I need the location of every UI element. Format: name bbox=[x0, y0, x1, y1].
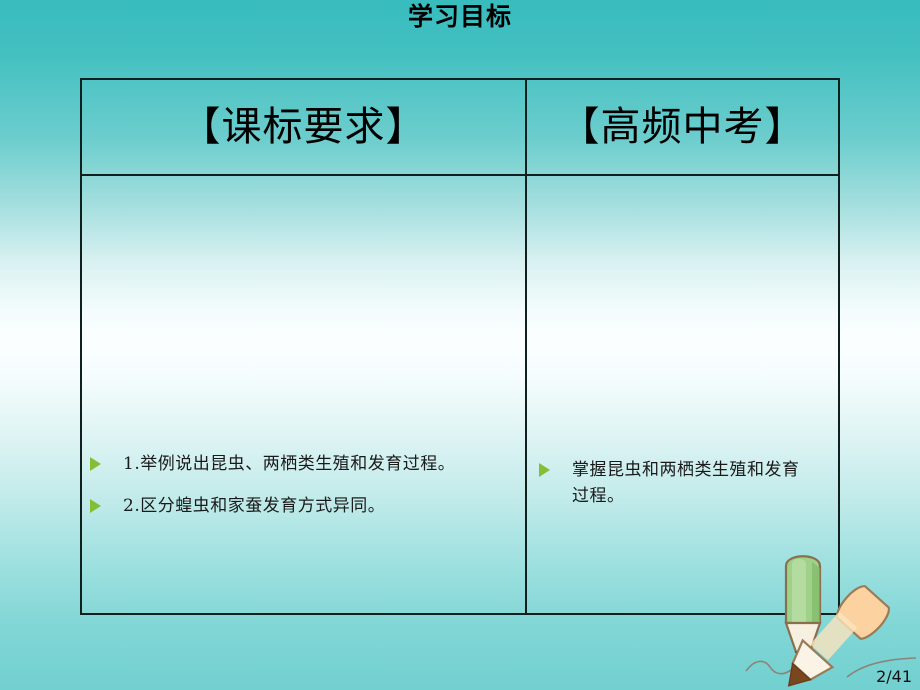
bullet-list-right: 掌握昆虫和两栖类生殖和发育过程。 bbox=[539, 457, 830, 525]
table-header-cell-right: 【高频中考】 bbox=[527, 80, 838, 174]
triangle-bullet-icon bbox=[90, 499, 101, 513]
table-body-row: 1.举例说出昆虫、两栖类生殖和发育过程。 2.区分蝗虫和家蚕发育方式异同。 掌握… bbox=[82, 176, 838, 613]
bullet-text-left-1: 1.举例说出昆虫、两栖类生殖和发育过程。 bbox=[123, 451, 455, 477]
squiggle-line-icon bbox=[746, 661, 812, 673]
table-body-cell-right: 掌握昆虫和两栖类生殖和发育过程。 bbox=[527, 176, 838, 613]
bullet-text-right-1: 掌握昆虫和两栖类生殖和发育过程。 bbox=[572, 457, 810, 509]
column-header-standard-requirement: 【课标要求】 bbox=[181, 103, 427, 151]
bullet-list-left: 1.举例说出昆虫、两栖类生殖和发育过程。 2.区分蝗虫和家蚕发育方式异同。 bbox=[90, 451, 517, 535]
page-title: 学习目标 bbox=[0, 2, 920, 32]
triangle-bullet-icon bbox=[90, 457, 101, 471]
list-item: 1.举例说出昆虫、两栖类生殖和发育过程。 bbox=[90, 451, 517, 477]
bullet-text-left-2: 2.区分蝗虫和家蚕发育方式异同。 bbox=[123, 493, 385, 519]
column-header-frequent-exam: 【高频中考】 bbox=[560, 103, 806, 151]
list-item: 2.区分蝗虫和家蚕发育方式异同。 bbox=[90, 493, 517, 519]
objectives-table: 【课标要求】 【高频中考】 1.举例说出昆虫、两栖类生殖和发育过程。 2.区分蝗… bbox=[80, 78, 840, 615]
slide-canvas: 学习目标 【课标要求】 【高频中考】 1.举例说出昆虫、两栖类生殖和发育过程。 bbox=[0, 0, 920, 690]
page-number: 2/41 bbox=[876, 667, 912, 686]
table-header-row: 【课标要求】 【高频中考】 bbox=[82, 80, 838, 176]
table-header-cell-left: 【课标要求】 bbox=[82, 80, 527, 174]
triangle-bullet-icon bbox=[539, 463, 550, 477]
table-body-cell-left: 1.举例说出昆虫、两栖类生殖和发育过程。 2.区分蝗虫和家蚕发育方式异同。 bbox=[82, 176, 527, 613]
list-item: 掌握昆虫和两栖类生殖和发育过程。 bbox=[539, 457, 830, 509]
